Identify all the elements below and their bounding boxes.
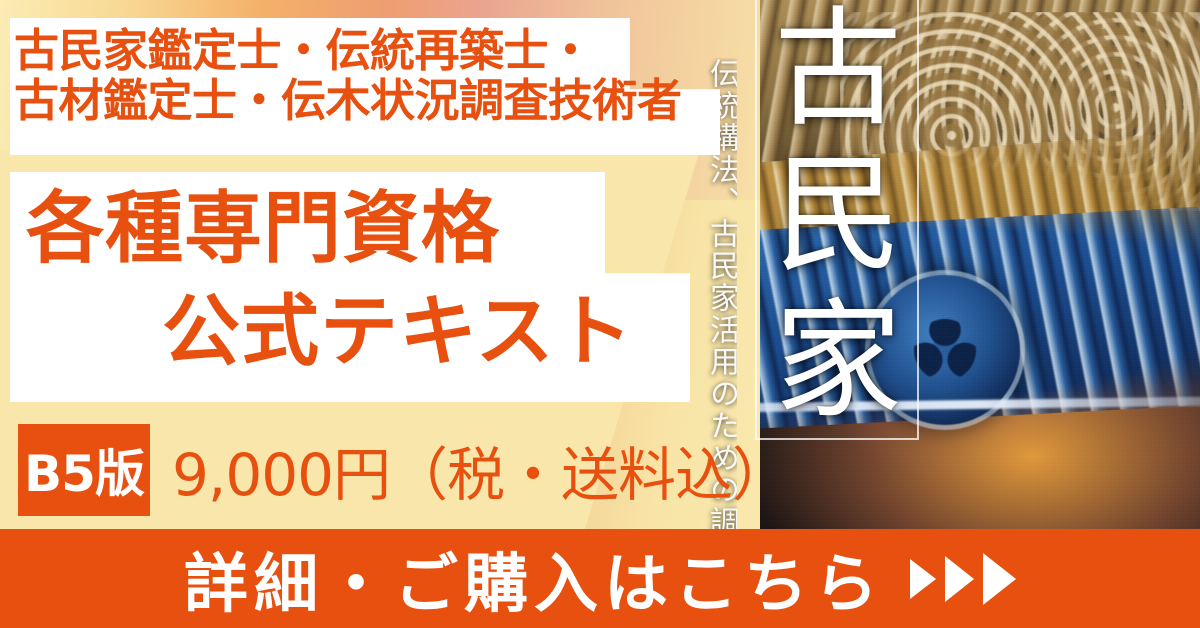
cta-label: 詳細・ご購入はこちら: [184, 533, 884, 625]
book-cover-title: 古 民 家: [768, 6, 908, 426]
book-cover-title-char-1: 古: [774, 6, 902, 134]
top-heading-line-1: 古民家鑑定士・伝統再築士・: [14, 26, 714, 76]
top-heading-line-2: 古材鑑定士・伝木状況調査技術者: [14, 76, 714, 126]
headline-line-1: 各種専門資格: [12, 178, 702, 281]
cta-bar[interactable]: 詳細・ご購入はこちら: [0, 529, 1200, 628]
headline-text: 各種専門資格 公式テキスト: [12, 178, 702, 384]
headline-line-2: 公式テキスト: [12, 281, 702, 384]
triangle-right-icon: [945, 556, 974, 602]
price-row: B5版 9,000円（税・送料込）: [18, 424, 789, 516]
price-amount: 9,000円（税・送料込）: [172, 428, 789, 512]
cta-arrow-group: [910, 553, 1016, 605]
triangle-right-icon: [983, 553, 1016, 605]
book-cover-title-char-3: 家: [774, 298, 902, 426]
format-badge: B5版: [18, 424, 150, 516]
top-heading-text: 古民家鑑定士・伝統再築士・ 古材鑑定士・伝木状況調査技術者: [14, 26, 714, 127]
book-cover-title-char-2: 民: [774, 152, 902, 280]
promo-banner: 古 民 家 伝統構法、古民家活用のための調査と再生の 古民家鑑定士・伝統再築士・…: [0, 0, 1200, 628]
triangle-right-icon: [910, 559, 936, 599]
